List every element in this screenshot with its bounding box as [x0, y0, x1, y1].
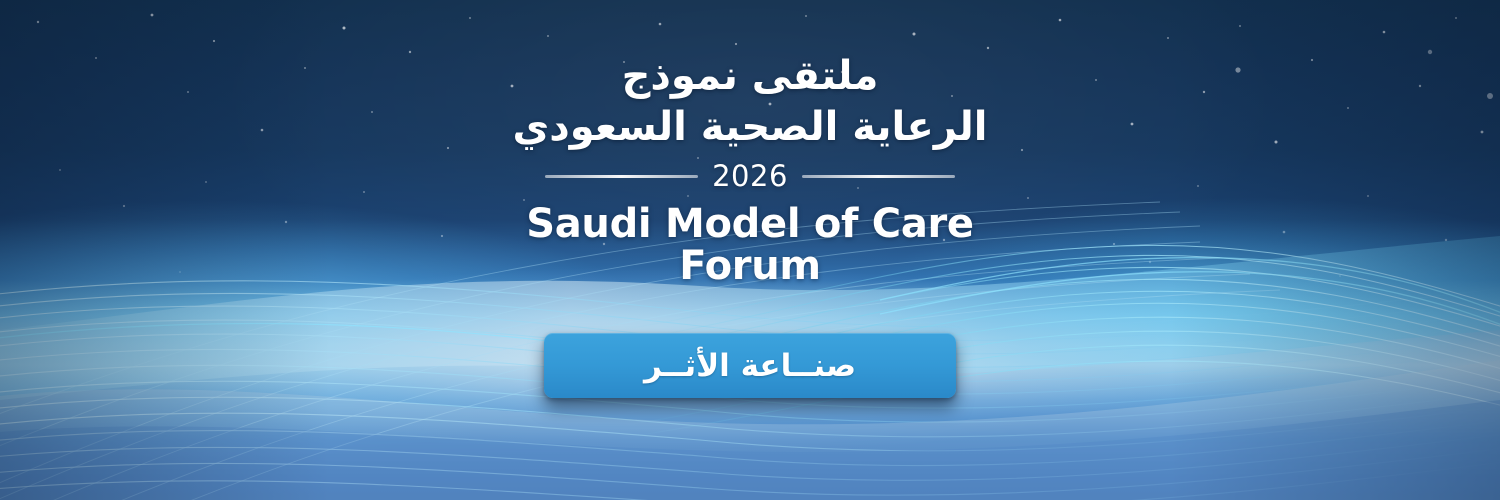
impact-cta-button[interactable]: صنــاعة الأثــر: [544, 333, 956, 398]
year-rule-left: [545, 175, 698, 178]
english-title-line-1: Saudi Model of Care: [526, 203, 974, 246]
banner-content: ملتقى نموذج الرعاية الصحية السعودي 2026 …: [0, 0, 1500, 500]
year-row: 2026: [545, 162, 955, 191]
year-rule-right: [802, 175, 955, 178]
arabic-title-line-1: ملتقى نموذج: [622, 52, 879, 101]
year-label: 2026: [698, 162, 802, 191]
english-title-line-2: Forum: [526, 245, 974, 288]
cta-wrapper: صنــاعة الأثــر: [544, 333, 956, 398]
english-title: Saudi Model of Care Forum: [526, 203, 974, 289]
arabic-title-line-2: الرعاية الصحية السعودي: [513, 103, 988, 152]
event-banner: ملتقى نموذج الرعاية الصحية السعودي 2026 …: [0, 0, 1500, 500]
